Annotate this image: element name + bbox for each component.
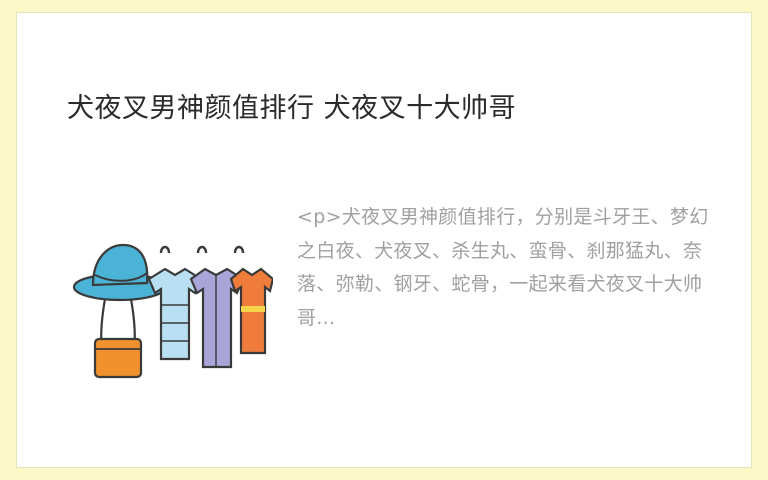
article-body: <p>犬夜叉男神颜值排行，分别是斗牙王、梦幻之白夜、犬夜叉、杀生丸、蛮骨、刹那猛… — [65, 201, 713, 421]
article-thumbnail[interactable] — [65, 213, 273, 399]
article-excerpt: <p>犬夜叉男神颜值排行，分别是斗牙王、梦幻之白夜、犬夜叉、杀生丸、蛮骨、刹那猛… — [297, 201, 709, 335]
clothes-rack-icon — [65, 213, 273, 399]
page-title: 犬夜叉男神颜值排行 犬夜叉十大帅哥 — [67, 89, 707, 128]
article-card: 犬夜叉男神颜值排行 犬夜叉十大帅哥 — [16, 12, 752, 468]
